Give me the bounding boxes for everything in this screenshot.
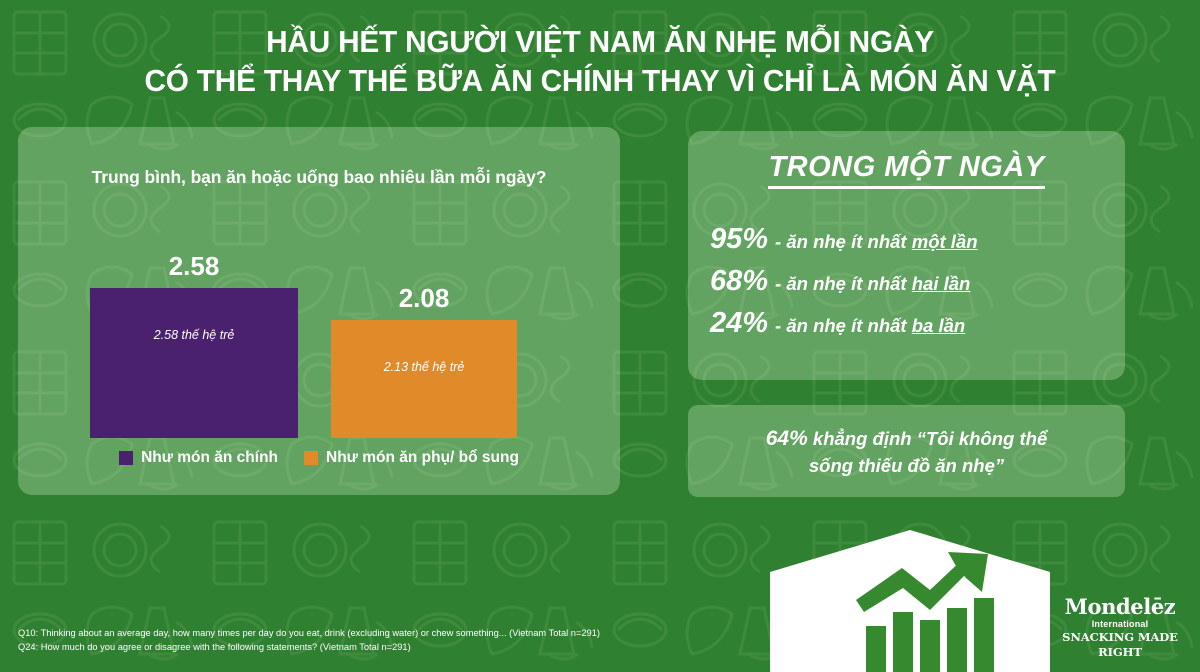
logo-tagline: SNACKING MADE RIGHT [1056, 630, 1184, 660]
stat-description: - ăn nhẹ ít nhất hai lần [775, 273, 970, 295]
bar-value-main: 2.58 [90, 251, 298, 282]
stat-prefix: - ăn nhẹ ít nhất [775, 273, 912, 294]
logo-subtitle: International [1056, 618, 1184, 630]
chart-question: Trung bình, bạn ăn hoặc uống bao nhiêu l… [18, 167, 620, 188]
day-stat-row: 24% - ăn nhẹ ít nhất ba lần [710, 307, 1125, 340]
footnotes: Q10: Thinking about an average day, how … [18, 626, 600, 654]
quote-panel: 64% khẳng định “Tôi không thể sống thiếu… [688, 405, 1125, 497]
quote-line-1: khẳng định “Tôi không thể [808, 428, 1047, 449]
footnote-q24: Q24: How much do you agree or disagree w… [18, 640, 600, 654]
stat-emphasis: ba lần [912, 315, 965, 336]
stat-emphasis: một lần [912, 231, 978, 252]
day-stat-row: 68% - ăn nhẹ ít nhất hai lần [710, 265, 1125, 298]
title-line-1: HẦU HẾT NGƯỜI VIỆT NAM ĂN NHẸ MỖI NGÀY [24, 22, 1176, 61]
growth-chart-badge [770, 530, 1050, 672]
chart-legend: Như món ăn chính Như món ăn phụ/ bổ sung [18, 449, 620, 467]
logo-wordmark: Mondelēz [1056, 596, 1184, 618]
page-title: HẦU HẾT NGƯỜI VIỆT NAM ĂN NHẸ MỖI NGÀY C… [0, 22, 1200, 100]
day-panel-title: TRONG MỘT NGÀY [688, 151, 1125, 184]
quote-percent: 64% [766, 427, 808, 450]
bar-main-meal [90, 288, 298, 438]
stat-percent: 95% [710, 223, 768, 256]
bar-inner-label-sub: 2.13 thế hệ trẻ [331, 360, 517, 374]
stat-description: - ăn nhẹ ít nhất ba lần [775, 315, 965, 337]
stat-emphasis: hai lần [912, 273, 971, 294]
legend-item-sub: Như món ăn phụ/ bổ sung [304, 449, 519, 467]
legend-item-main: Như món ăn chính [119, 449, 278, 467]
day-panel-title-text: TRONG MỘT NGÀY [768, 151, 1044, 189]
bar-value-sub: 2.08 [331, 283, 517, 314]
stat-prefix: - ăn nhẹ ít nhất [775, 231, 912, 252]
quote-text: 64% khẳng định “Tôi không thể sống thiếu… [688, 425, 1125, 479]
stat-percent: 24% [710, 307, 768, 340]
day-stats-panel: TRONG MỘT NGÀY 95% - ăn nhẹ ít nhất một … [688, 131, 1125, 380]
quote-line-2: sống thiếu đồ ăn nhẹ” [809, 455, 1004, 476]
legend-label-main: Như món ăn chính [141, 449, 278, 467]
infographic-canvas: HẦU HẾT NGƯỜI VIỆT NAM ĂN NHẸ MỖI NGÀY C… [0, 0, 1200, 672]
stat-percent: 68% [710, 265, 768, 298]
footnote-q10: Q10: Thinking about an average day, how … [18, 626, 600, 640]
chart-panel: Trung bình, bạn ăn hoặc uống bao nhiêu l… [18, 127, 620, 495]
legend-swatch-purple-icon [119, 451, 133, 465]
stat-description: - ăn nhẹ ít nhất một lần [775, 231, 977, 253]
mondelez-logo: Mondelēz International SNACKING MADE RIG… [1056, 596, 1184, 660]
stat-prefix: - ăn nhẹ ít nhất [775, 315, 912, 336]
bar-supplementary [331, 320, 517, 438]
day-stat-list: 95% - ăn nhẹ ít nhất một lần 68% - ăn nh… [710, 223, 1125, 349]
legend-swatch-orange-icon [304, 451, 318, 465]
legend-label-sub: Như món ăn phụ/ bổ sung [326, 449, 519, 467]
bar-inner-label-main: 2.58 thế hệ trẻ [90, 328, 298, 342]
title-line-2: CÓ THỂ THAY THẾ BỮA ĂN CHÍNH THAY VÌ CHỈ… [24, 61, 1176, 100]
day-stat-row: 95% - ăn nhẹ ít nhất một lần [710, 223, 1125, 256]
